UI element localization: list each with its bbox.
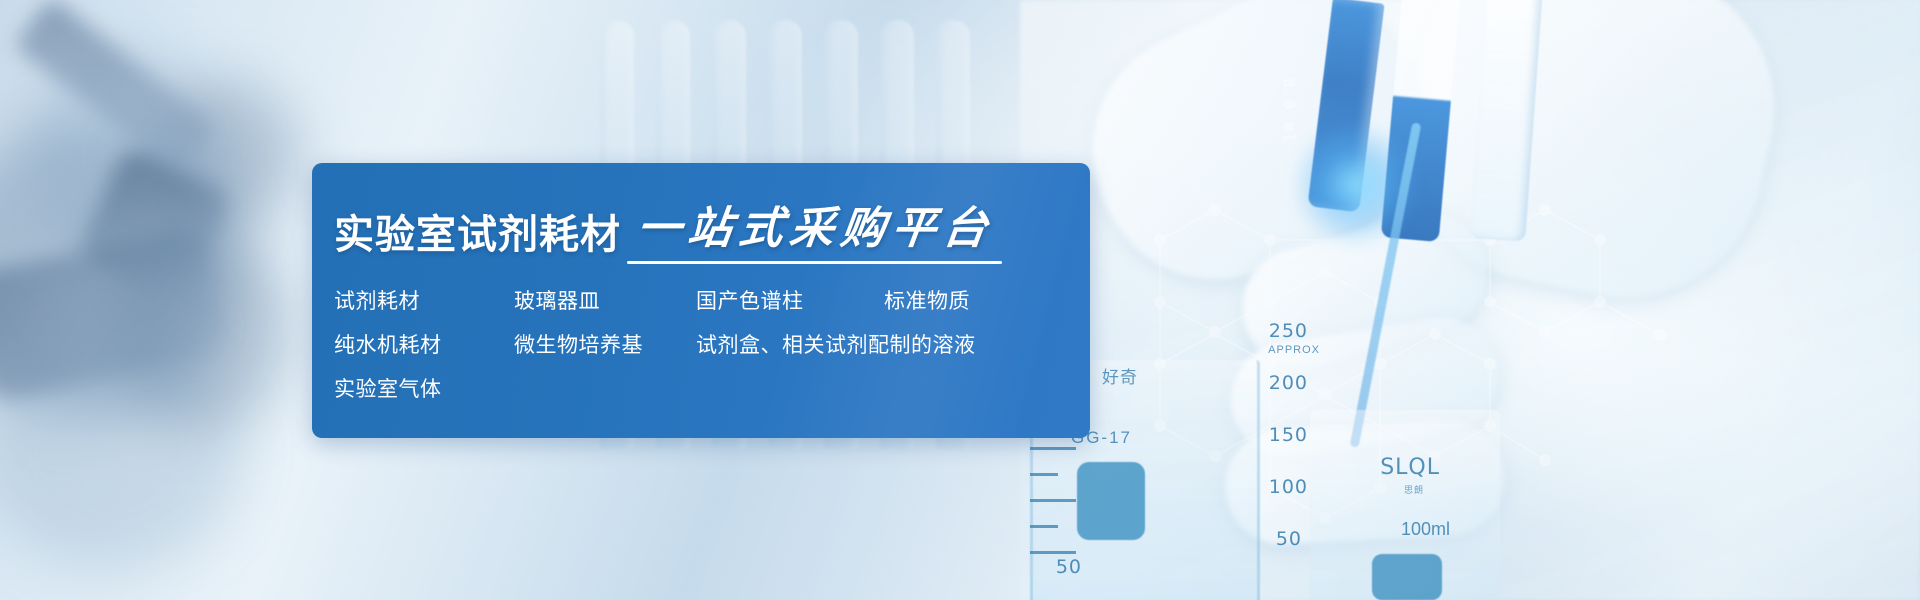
flask-label-block	[1372, 554, 1442, 600]
beaker-brand-label: 好奇	[1102, 363, 1138, 388]
beaker-graduation-50-left: 50	[1056, 556, 1082, 578]
category-link-reference-materials[interactable]: 标准物质	[884, 289, 970, 315]
beaker-graduation-250: 250	[1269, 320, 1308, 342]
headline-script-wrapper: 一站式采购平台	[637, 207, 994, 255]
beaker-approx-label: APPROX	[1268, 344, 1320, 356]
headline-script-text: 一站式采购平台	[634, 207, 996, 251]
category-row: 纯水机耗材 微生物培养基 试剂盒、相关试剂配制的溶液	[334, 333, 1090, 359]
headline-main-text: 实验室试剂耗材	[334, 215, 621, 255]
flask-brand-label: SLQL	[1380, 455, 1440, 480]
category-row: 实验室气体	[334, 377, 1090, 403]
category-list: 试剂耗材 玻璃器皿 国产色谱柱 标准物质 纯水机耗材 微生物培养基 试剂盒、相关…	[312, 255, 1090, 403]
promo-panel: 实验室试剂耗材 一站式采购平台 试剂耗材 玻璃器皿 国产色谱柱 标准物质 纯水机…	[312, 163, 1090, 438]
category-link-glassware[interactable]: 玻璃器皿	[514, 289, 696, 315]
vial-marking-label: 8.0 ml	[1279, 78, 1298, 144]
beaker-graduation-100: 100	[1269, 476, 1308, 498]
category-link-reagent-kits-and-solutions[interactable]: 试剂盒、相关试剂配制的溶液	[696, 333, 976, 359]
category-row: 试剂耗材 玻璃器皿 国产色谱柱 标准物质	[334, 289, 1090, 315]
flask-brand-sub-label: 思朗	[1404, 483, 1424, 496]
category-link-domestic-chromatography-column[interactable]: 国产色谱柱	[696, 289, 884, 315]
beaker-graduation-200: 200	[1269, 372, 1308, 394]
category-link-water-purifier-consumables[interactable]: 纯水机耗材	[334, 333, 514, 359]
flask-volume-label: 100ml	[1401, 519, 1450, 540]
category-link-laboratory-gases[interactable]: 实验室气体	[334, 377, 514, 403]
headline: 实验室试剂耗材 一站式采购平台	[312, 193, 1090, 255]
beaker-graduation-150: 150	[1269, 424, 1308, 446]
beaker-graduation-50: 50	[1276, 528, 1302, 550]
category-link-microbial-culture-media[interactable]: 微生物培养基	[514, 333, 696, 359]
hero-banner: 8.0 ml 250 APPROX 200 150 100 50 50 GG-1…	[0, 0, 1920, 600]
category-link-reagent-consumables[interactable]: 试剂耗材	[334, 289, 514, 315]
